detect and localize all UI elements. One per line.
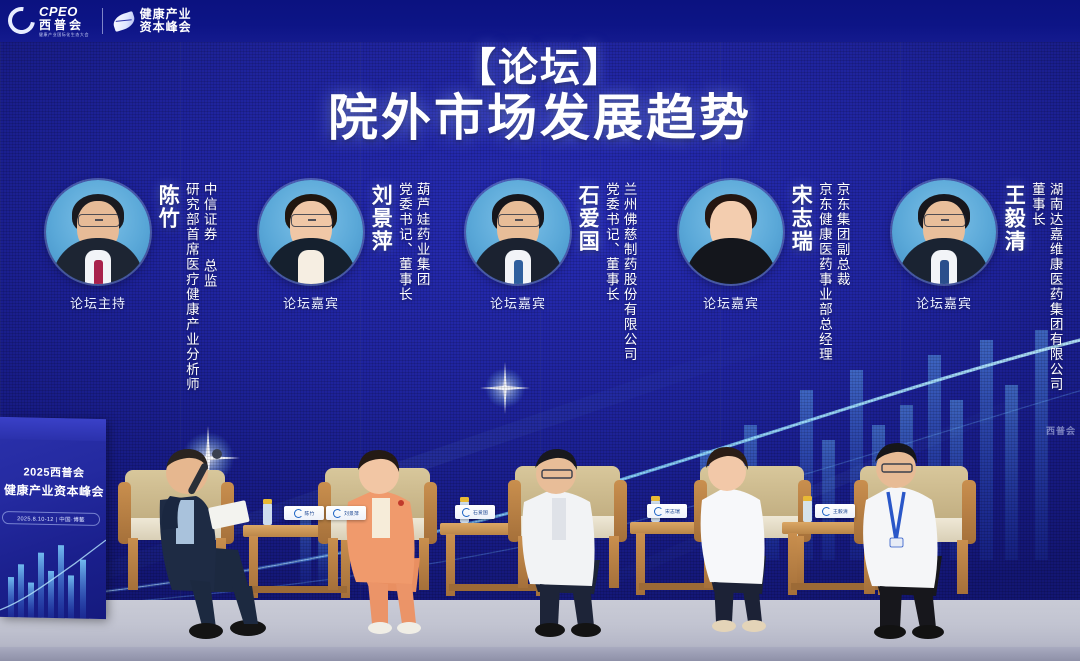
conference-stage-photo: CPEO 西普会 健康产业国际化生态大会 健康产业 资本峰会 【论坛】 院外市场… (0, 0, 1080, 661)
nameplate-logo-icon (294, 509, 303, 518)
panelist-card: 论坛主持 陈竹 中信证券 总监 研究部首席医疗健康产业分析师 (42, 180, 217, 392)
panelist-title-line1: 兰州佛慈制药股份有限公司 (621, 182, 637, 362)
avatar (679, 180, 783, 284)
cpeo-logo-cn: 西普会 (39, 19, 92, 31)
panelist-titles: 京东集团副总裁 京东健康医药事业部总经理 (814, 182, 849, 362)
panelist-titles: 湖南达嘉维康医药集团有限公司 董事长 (1027, 182, 1062, 392)
leaf-icon (111, 10, 137, 31)
forum-title: 【论坛】 院外市场发展趋势 (0, 48, 1080, 144)
seated-panel-scene (0, 400, 1080, 661)
nameplate-logo-icon (333, 509, 342, 518)
panelist-name: 陈竹 (156, 184, 178, 230)
panelist-role: 论坛主持 (70, 293, 126, 312)
panelist-role: 论坛嘉宾 (283, 293, 339, 312)
cpeo-logo-en: CPEO (39, 5, 92, 18)
panelist-title-line2: 研究部首席医疗健康产业分析师 (183, 182, 199, 392)
panelist-card: 论坛嘉宾 刘景萍 葫芦娃药业集团 党委书记、董事长 (255, 180, 430, 312)
nameplate: 王毅清 (815, 504, 855, 518)
panelist-card: 论坛嘉宾 宋志瑞 京东集团副总裁 京东健康医药事业部总经理 (675, 180, 850, 362)
panelist-titles: 中信证券 总监 研究部首席医疗健康产业分析师 (181, 182, 216, 392)
nameplate: 刘景萍 (326, 506, 366, 520)
panelist-name: 刘景萍 (369, 184, 391, 253)
avatar (46, 180, 150, 284)
summit-logo-line2: 资本峰会 (140, 21, 192, 34)
panelist-title-line1: 京东集团副总裁 (834, 182, 850, 362)
nameplate-logo-icon (822, 507, 831, 516)
panelist-title-line2: 京东健康医药事业部总经理 (816, 182, 832, 362)
panelist-title-line1: 葫芦娃药业集团 (414, 182, 430, 302)
header-logo-band: CPEO 西普会 健康产业国际化生态大会 健康产业 资本峰会 (0, 0, 1080, 42)
panelist-titles: 葫芦娃药业集团 党委书记、董事长 (394, 182, 429, 302)
forum-title-line1: 【论坛】 (0, 48, 1080, 89)
panelist-title-line1: 湖南达嘉维康医药集团有限公司 (1047, 182, 1063, 392)
panelist-titles: 兰州佛慈制药股份有限公司 党委书记、董事长 (601, 182, 636, 362)
panelist-card: 论坛嘉宾 石爱国 兰州佛慈制药股份有限公司 党委书记、董事长 (462, 180, 637, 362)
panelist-title-line2: 董事长 (1029, 182, 1045, 392)
panelist-role: 论坛嘉宾 (490, 293, 546, 312)
panelist-role: 论坛嘉宾 (916, 293, 972, 312)
health-capital-summit-logo: 健康产业 资本峰会 (113, 8, 192, 34)
panelist-name: 王毅清 (1002, 184, 1024, 253)
avatar (892, 180, 996, 284)
logo-divider (102, 8, 103, 34)
nameplate-logo-icon (654, 507, 663, 516)
panelist-card: 论坛嘉宾 王毅清 湖南达嘉维康医药集团有限公司 董事长 (888, 180, 1063, 392)
cpeo-ring-icon (3, 2, 41, 40)
avatar (466, 180, 570, 284)
panelist-title-line1: 中信证券 总监 (201, 182, 217, 392)
panelist-name: 宋志瑞 (789, 184, 811, 253)
logo-group: CPEO 西普会 健康产业国际化生态大会 健康产业 资本峰会 (0, 0, 192, 42)
nameplate-logo-icon (462, 508, 471, 517)
panelist-title-line2: 党委书记、董事长 (603, 182, 619, 362)
cpeo-logo-sub: 健康产业国际化生态大会 (39, 33, 89, 37)
panelist-name: 石爱国 (576, 184, 598, 253)
avatar (259, 180, 363, 284)
nameplate: 宋志瑞 (647, 504, 687, 518)
nameplate: 石爱国 (455, 505, 495, 519)
panelist-role: 论坛嘉宾 (703, 293, 759, 312)
forum-title-line2: 院外市场发展趋势 (0, 93, 1080, 144)
cpeo-logo: CPEO 西普会 健康产业国际化生态大会 (8, 5, 92, 37)
nameplate: 陈竹 (284, 506, 324, 520)
panelist-title-line2: 党委书记、董事长 (396, 182, 412, 302)
